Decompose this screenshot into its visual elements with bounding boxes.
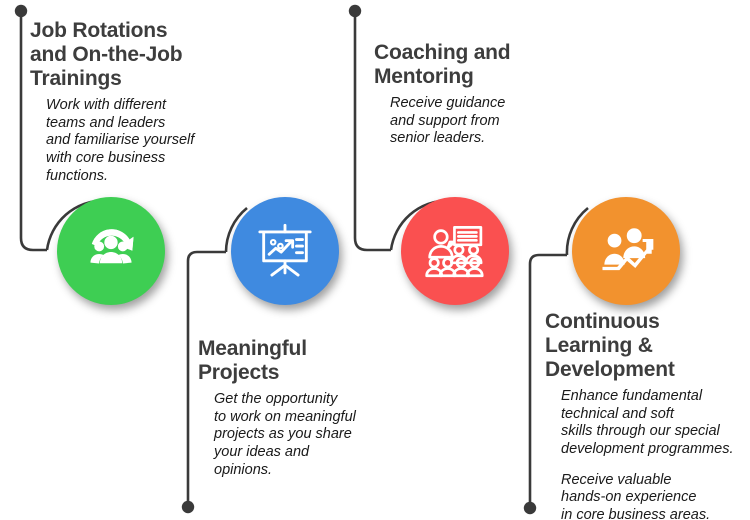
connector-endpoint-dot-3: [349, 5, 361, 17]
step-body-3-0: Receive guidance and support from senior…: [390, 95, 559, 148]
step-icon-circle-3[interactable]: [401, 197, 509, 305]
connector-endpoint-dot-1: [15, 5, 27, 17]
step-block-job-rotations: Job Rotations and On-the-Job Trainings W…: [30, 19, 226, 185]
step-body-4-1: Receive valuable hands-on experience in …: [561, 472, 741, 520]
step-icon-circle-4[interactable]: [572, 197, 680, 305]
connector-endpoint-dot-4: [524, 502, 536, 514]
step-block-meaningful-projects: Meaningful Projects Get the opportunity …: [198, 337, 378, 479]
step-icon-circle-2[interactable]: [231, 197, 339, 305]
presentation-chart-icon: [250, 216, 320, 286]
step-block-continuous-learning: Continuous Learning & Development Enhanc…: [545, 310, 741, 520]
step-title-3: Coaching and Mentoring: [374, 41, 559, 89]
step-body-2-0: Get the opportunity to work on meaningfu…: [214, 391, 378, 479]
step-body-4-0: Enhance fundamental technical and soft s…: [561, 388, 741, 459]
step-title-4: Continuous Learning & Development: [545, 310, 741, 382]
step-title-1: Job Rotations and On-the-Job Trainings: [30, 19, 226, 91]
infographic-canvas: Job Rotations and On-the-Job Trainings W…: [0, 0, 750, 520]
step-icon-circle-1[interactable]: [57, 197, 165, 305]
coaching-audience-icon: [419, 215, 491, 287]
connector-endpoint-dot-2: [182, 501, 194, 513]
job-rotation-icon: [76, 216, 146, 286]
growth-people-icon: [591, 216, 661, 286]
step-block-coaching-mentoring: Coaching and Mentoring Receive guidance …: [374, 41, 559, 148]
step-title-2: Meaningful Projects: [198, 337, 378, 385]
step-body-1-0: Work with different teams and leaders an…: [46, 97, 226, 185]
